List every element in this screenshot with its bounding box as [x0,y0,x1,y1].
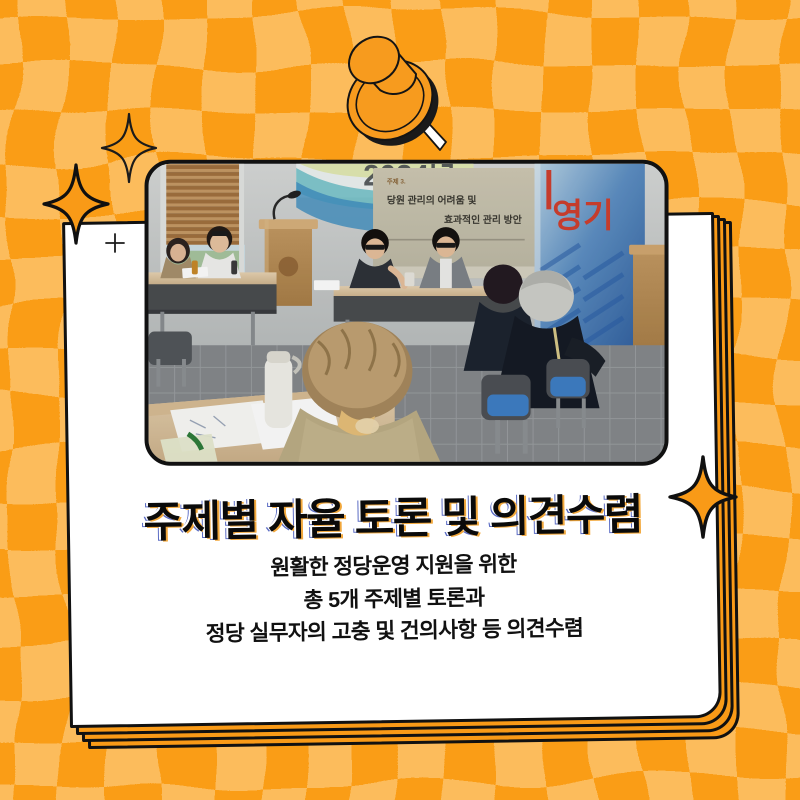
poster-title: 주제별 자율 토론 및 의견수렴 [69,479,716,551]
poster-canvas: 2024년 주제 3. 당원 관리의 어려움 및 효과적인 관리 방안 [0,0,800,800]
push-pin-icon [318,28,468,158]
sparkle-filled-icon [42,163,110,245]
sparkle-small-icon [104,232,126,254]
meeting-photo-image: 2024년 주제 3. 당원 관리의 어려움 및 효과적인 관리 방안 [149,164,665,462]
sparkle-filled-right-icon [668,455,738,539]
meeting-photo: 2024년 주제 3. 당원 관리의 어려움 및 효과적인 관리 방안 [145,160,669,466]
poster-subtitle: 원활한 정당운영 지원을 위한 총 5개 주제별 토론과 정당 실무자의 고충 … [70,545,717,653]
content-card: 2024년 주제 3. 당원 관리의 어려움 및 효과적인 관리 방안 [62,212,722,728]
